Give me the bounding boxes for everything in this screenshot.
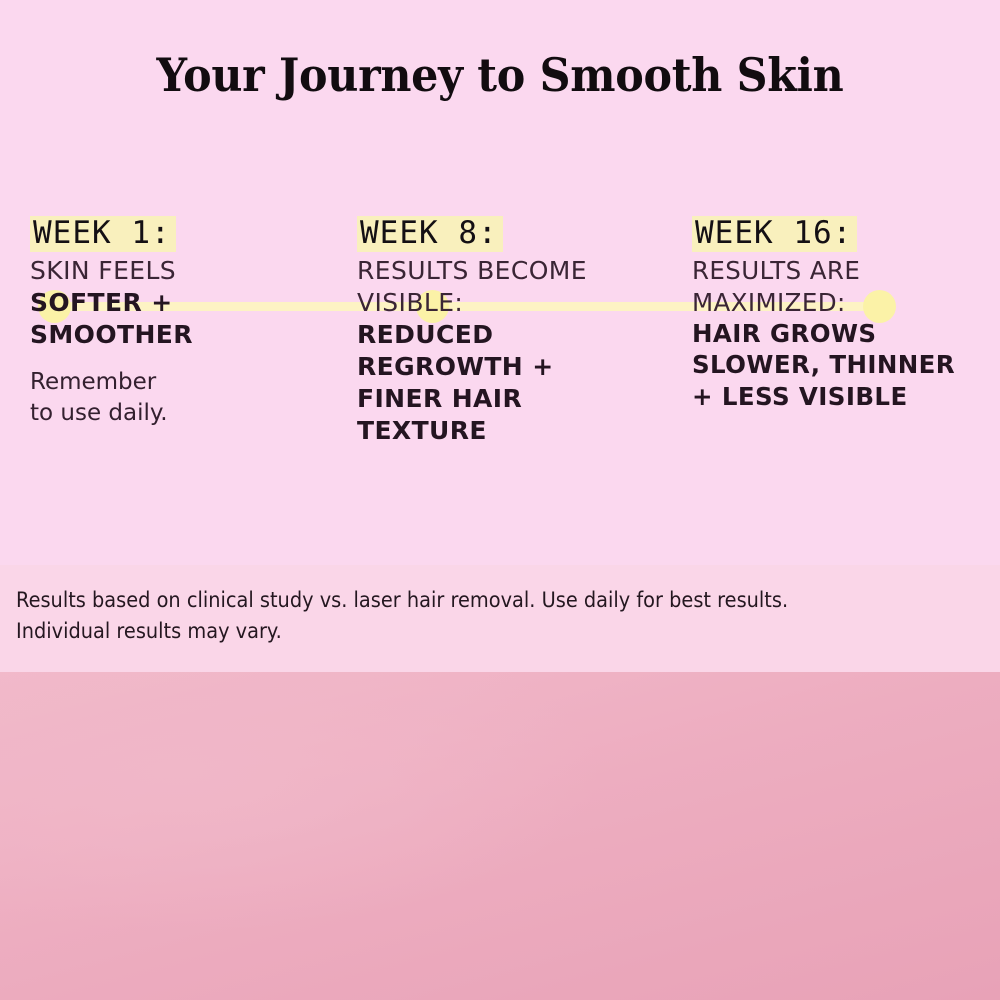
stage-line: TEXTURE <box>357 415 672 447</box>
stage-heading: WEEK 1: <box>30 216 176 252</box>
stage-line: + LESS VISIBLE <box>692 381 992 412</box>
stage-note-line: to use daily. <box>30 398 330 429</box>
timeline <box>0 140 1000 196</box>
stage-line: RESULTS BECOME <box>357 255 672 287</box>
page-title: Your Journey to Smooth Skin <box>35 48 965 102</box>
stage-line: HAIR GROWS <box>692 318 992 349</box>
stage-heading: WEEK 8: <box>357 216 503 252</box>
stage-line: MAXIMIZED: <box>692 287 992 318</box>
stage-line: VISIBLE: <box>357 287 672 319</box>
stage-line: SKIN FEELS <box>30 255 330 287</box>
stage-line: RESULTS ARE <box>692 255 992 286</box>
disclaimer: Results based on clinical study vs. lase… <box>16 586 894 647</box>
product-photo: CYPERUS ROTUNDUS OIL HAIR REDUCTION FORM… <box>0 672 1000 1000</box>
stage-column-week-16: WEEK 16: RESULTS ARE MAXIMIZED: HAIR GRO… <box>692 216 992 412</box>
stage-line: SOFTER + <box>30 287 330 319</box>
disclaimer-line-2: Individual results may vary. <box>16 617 894 648</box>
stage-line: SLOWER, THINNER <box>692 349 992 380</box>
stage-note-line: Remember <box>30 367 330 398</box>
stage-line: REGROWTH + <box>357 351 672 383</box>
stage-column-week-1: WEEK 1: SKIN FEELS SOFTER + SMOOTHER Rem… <box>30 216 330 429</box>
disclaimer-line-1: Results based on clinical study vs. lase… <box>16 586 894 617</box>
stage-line: FINER HAIR <box>357 383 672 415</box>
infographic-panel: Your Journey to Smooth Skin WEEK 1: SKIN… <box>0 0 1000 672</box>
stage-column-week-8: WEEK 8: RESULTS BECOME VISIBLE: REDUCED … <box>357 216 672 447</box>
stage-columns: WEEK 1: SKIN FEELS SOFTER + SMOOTHER Rem… <box>0 216 1000 556</box>
stage-line: REDUCED <box>357 319 672 351</box>
stage-heading: WEEK 16: <box>692 216 857 252</box>
stage-line: SMOOTHER <box>30 319 330 351</box>
